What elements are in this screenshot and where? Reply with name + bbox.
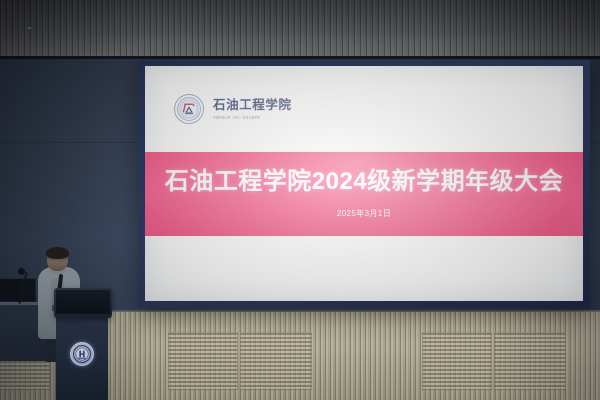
- projection-screen: 石油工程学院 中国石油大学（华东）石油工程学院 石油工程学院2024级新学期年级…: [138, 60, 590, 308]
- presenter-hair: [46, 247, 69, 259]
- slide-title-band: 石油工程学院2024级新学期年级大会 2025年3月1日: [145, 152, 583, 236]
- lectern-monitor-screen: [56, 290, 110, 314]
- auditorium-scene: 石油工程学院 中国石油大学（华东）石油工程学院 石油工程学院2024级新学期年级…: [0, 0, 600, 400]
- institute-subtitle: 中国石油大学（华东）石油工程学院: [213, 115, 292, 120]
- slide-date: 2025年3月1日: [337, 208, 391, 219]
- acoustic-vent-panel: [168, 332, 238, 390]
- acoustic-vent-panel: [240, 332, 312, 390]
- projection-screen-surface: 石油工程学院 中国石油大学（华东）石油工程学院 石油工程学院2024级新学期年级…: [145, 66, 583, 301]
- slide-title: 石油工程学院2024级新学期年级大会: [165, 170, 563, 194]
- slide-header: 石油工程学院 中国石油大学（华东）石油工程学院: [145, 66, 583, 152]
- ceiling-slat-panel: [0, 0, 600, 58]
- lectern-monitor-indicator: [28, 27, 31, 29]
- logo-text-block: 石油工程学院 中国石油大学（华东）石油工程学院: [213, 99, 292, 120]
- institute-name: 石油工程学院: [213, 99, 292, 113]
- wood-wall-shadow-right: [480, 312, 600, 400]
- lectern-confidence-monitor: [54, 288, 112, 318]
- operator-monitor-screen: [0, 279, 35, 301]
- university-seal-icon: [174, 94, 204, 124]
- podium-crest-icon: [70, 342, 94, 366]
- microphone-head-icon: [18, 268, 25, 275]
